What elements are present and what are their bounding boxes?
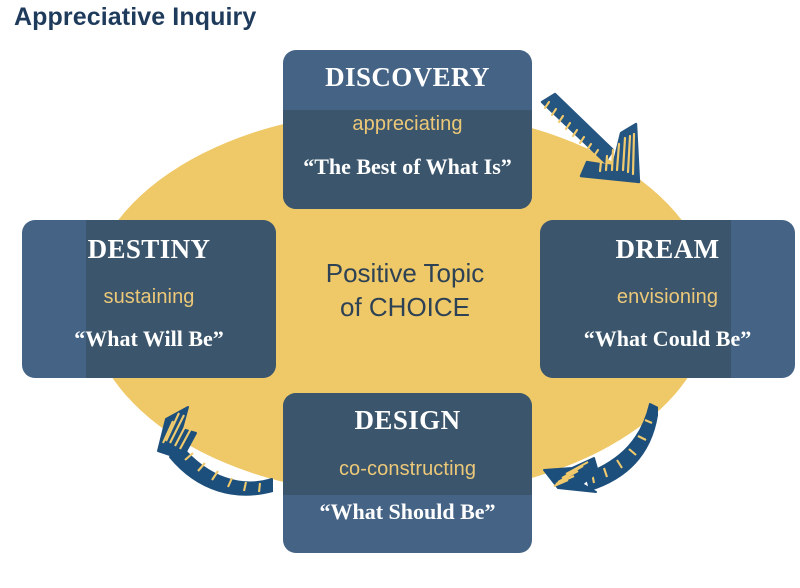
phase-title-design: DESIGN xyxy=(283,405,532,436)
phase-verb-design: co-constructing xyxy=(283,458,532,481)
page-title: Appreciative Inquiry xyxy=(14,3,256,32)
phase-verb-discovery: appreciating xyxy=(283,113,532,136)
phase-box-design[interactable]: DESIGN co-constructing “What Should Be” xyxy=(283,393,532,553)
phase-quote-design: “What Should Be” xyxy=(283,499,532,525)
phase-title-dream: DREAM xyxy=(540,234,795,265)
phase-box-destiny[interactable]: DESTINY sustaining “What Will Be” xyxy=(22,220,276,378)
phase-quote-dream: “What Could Be” xyxy=(540,326,795,352)
phase-verb-destiny: sustaining xyxy=(22,286,276,309)
phase-quote-destiny: “What Will Be” xyxy=(22,326,276,352)
phase-quote-discovery: “The Best of What Is” xyxy=(283,154,532,180)
phase-box-dream[interactable]: DREAM envisioning “What Could Be” xyxy=(540,220,795,378)
phase-box-discovery[interactable]: DISCOVERY appreciating “The Best of What… xyxy=(283,50,532,209)
phase-title-destiny: DESTINY xyxy=(22,234,276,265)
appreciative-inquiry-diagram: Appreciative Inquiry Positive Topic of C… xyxy=(0,0,800,588)
phase-title-discovery: DISCOVERY xyxy=(283,62,532,93)
phase-verb-dream: envisioning xyxy=(540,286,795,309)
